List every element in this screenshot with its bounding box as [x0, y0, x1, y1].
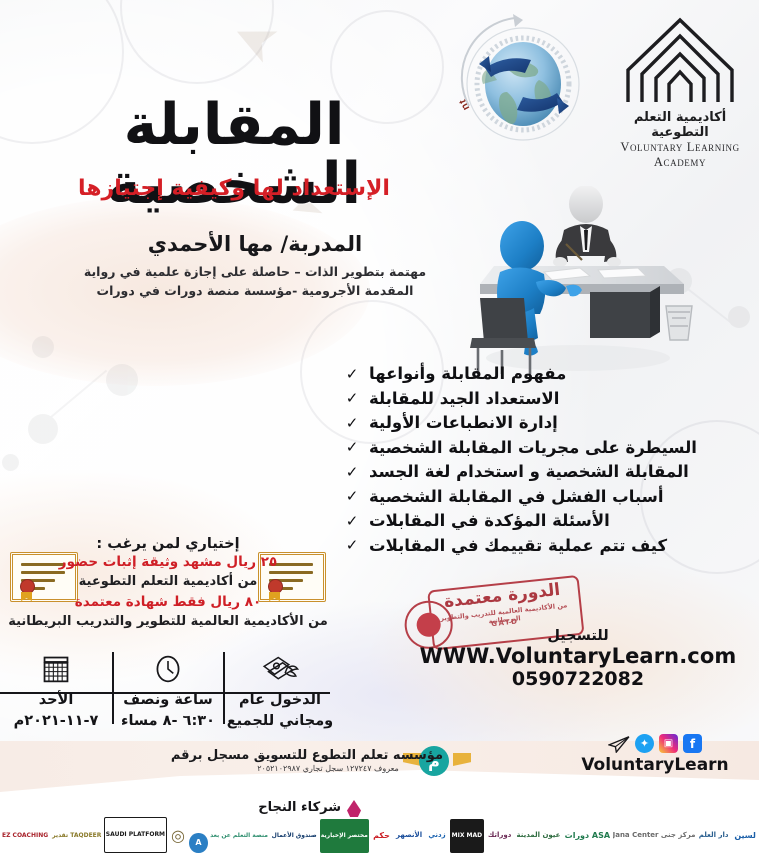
info-col-date: الأحد ٧-١١-٢٠٢١م: [0, 648, 112, 732]
check-icon: ✓: [345, 438, 359, 456]
course-poster: ➤ ➤: [0, 0, 759, 853]
info-date-value: ٧-١١-٢٠٢١م: [0, 711, 112, 732]
partner-logo: لسين: [732, 819, 758, 853]
partner-logo: زدني: [426, 819, 448, 853]
trainer-bio-line-1: مهتمة بتطوير الذات – حاصلة على إجازة علم…: [60, 262, 450, 281]
optional-price-certificate: ٨٠ ريال فقط شهادة معتمدة: [0, 592, 336, 612]
partner-logo: ◎: [169, 819, 188, 853]
list-item: ✓ المقابلة الشخصية و استخدام لغة الجسد: [345, 462, 745, 481]
check-icon: ✓: [345, 414, 359, 432]
partner-logo: مختصر الإخبارية: [320, 819, 369, 853]
registration-url[interactable]: WWW.VoluntaryLearn.com: [413, 644, 743, 668]
flying-money-icon: [224, 648, 336, 690]
list-item: ✓ أسباب الفشل في المقابلة الشخصية: [345, 487, 745, 506]
partner-logo: دار العلم: [697, 819, 730, 853]
info-col-price: الدخول عام ومجاني للجميع: [224, 648, 336, 732]
academy-name-en-1: Voluntary Learning: [606, 140, 754, 155]
partner-logo: منصة التعلم عن بعد: [210, 819, 269, 853]
topic-label: كيف تتم عملية تقييمك في المقابلات: [369, 536, 667, 555]
topic-label: المقابلة الشخصية و استخدام لغة الجسد: [369, 462, 689, 481]
partner-logo: SAUDI PLATFORM: [104, 817, 166, 853]
footer-organization: مؤسسه تعلم التطوع للتسويق مسجل برقم معرو…: [213, 748, 443, 773]
partner-logo: حكم: [371, 819, 392, 853]
info-date-day: الأحد: [0, 690, 112, 711]
optional-issuer-academy: من أكاديمية التعلم التطوعية: [0, 572, 336, 592]
course-info-row: الأحد ٧-١١-٢٠٢١م ساعة ونصف ٦:٣٠ -٨ مساء: [0, 648, 336, 732]
info-duration: ساعة ونصف: [112, 690, 224, 711]
deco-molecule-left: [10, 330, 150, 480]
social-handle: VoluntaryLearn: [565, 755, 745, 775]
optional-heading: إختياري لمن يرغب :: [0, 536, 336, 552]
partner-logo: الأنصهر: [394, 819, 424, 853]
optional-price-attendance: ٢٥ ريال مشهد وثيقة إثبات حضور: [0, 552, 336, 572]
instagram-icon[interactable]: ▣: [659, 734, 678, 753]
list-item: ✓ مفهوم المقابلة وأنواعها: [345, 364, 745, 383]
topic-label: الاستعداد الجيد للمقابلة: [369, 389, 559, 408]
partner-logo: دوراتك: [486, 819, 514, 853]
social-icons: f ▣ ✦: [565, 734, 745, 753]
topic-label: مفهوم المقابلة وأنواعها: [369, 364, 566, 383]
footer-org-line-1: مؤسسه تعلم التطوع للتسويق مسجل برقم: [213, 748, 443, 763]
list-item: ✓ إدارة الانطباعات الأولية: [345, 413, 745, 432]
svg-text:Iqbal Academy for Training And: Iqbal Academy for Training And Developme…: [455, 6, 472, 112]
voluntary-learning-academy-logo: أكاديمية التعلم التطوعية Voluntary Learn…: [606, 12, 754, 162]
partner-logo: TAQDEER تقدير: [51, 819, 102, 853]
topics-list: ✓ مفهوم المقابلة وأنواعها ✓ الاستعداد ال…: [345, 364, 745, 560]
iqbal-academy-logo: Iqbal Academy for Training And Developme…: [455, 6, 595, 156]
registration-phone[interactable]: 0590722082: [413, 668, 743, 690]
topic-label: السيطرة على مجريات المقابلة الشخصية: [369, 438, 697, 457]
list-item: ✓ السيطرة على مجريات المقابلة الشخصية: [345, 438, 745, 457]
optional-issuer-international: من الأكاديمية العالمية للتطوير والتدريب …: [0, 612, 336, 632]
check-icon: ✓: [345, 365, 359, 383]
check-icon: ✓: [345, 389, 359, 407]
partner-logos-row: لسين دار العلم مركز جنى Jana Center ASA …: [0, 792, 759, 853]
partner-logo: A: [189, 833, 207, 853]
info-time-range: ٦:٣٠ -٨ مساء: [112, 711, 224, 732]
list-item: ✓ كيف تتم عملية تقييمك في المقابلات: [345, 536, 745, 555]
topic-label: الأسئلة المؤكدة في المقابلات: [369, 511, 610, 530]
topic-label: إدارة الانطباعات الأولية: [369, 413, 558, 432]
job-interview-illustration: [438, 186, 700, 376]
partner-logo: EZ COACHING: [1, 819, 49, 853]
info-entry-1: الدخول عام: [224, 690, 336, 711]
clock-icon: [112, 648, 224, 690]
partner-logo: صندوق الأعمال: [271, 819, 318, 853]
check-icon: ✓: [345, 487, 359, 505]
check-icon: ✓: [345, 536, 359, 554]
partner-logo: مركز جنى Jana Center: [613, 819, 695, 853]
partner-logo: عيون المدينة: [515, 819, 561, 853]
poster-subtitle: الإستعداد لها وكيفية إجتيازها: [14, 176, 454, 201]
check-icon: ✓: [345, 512, 359, 530]
topic-label: أسباب الفشل في المقابلة الشخصية: [369, 487, 664, 506]
registration-label: للتسجيل: [413, 628, 743, 644]
social-block: f ▣ ✦ VoluntaryLearn: [565, 734, 745, 775]
telegram-icon[interactable]: [608, 734, 630, 753]
facebook-icon[interactable]: f: [683, 734, 702, 753]
list-item: ✓ الاستعداد الجيد للمقابلة: [345, 389, 745, 408]
optional-certificate-block: إختياري لمن يرغب : ٢٥ ريال مشهد وثيقة إث…: [0, 536, 336, 632]
twitter-icon[interactable]: ✦: [635, 734, 654, 753]
trainer-name: المدربة/ مها الأحمدي: [60, 232, 450, 256]
list-item: ✓ الأسئلة المؤكدة في المقابلات: [345, 511, 745, 530]
partner-logo: ASA دورات: [564, 819, 612, 853]
registration-block: للتسجيل WWW.VoluntaryLearn.com 059072208…: [413, 628, 743, 690]
footer-org-line-2: معروف ١٢٧٢٤٧ سجل تجاري ٢٠٥٢١٠٢٩٨٧: [213, 764, 443, 773]
info-entry-2: ومجاني للجميع: [224, 711, 336, 732]
academy-name-en-2: Academy: [606, 155, 754, 170]
info-col-time: ساعة ونصف ٦:٣٠ -٨ مساء: [112, 648, 224, 732]
calendar-icon: [0, 648, 112, 690]
trainer-bio: مهتمة بتطوير الذات – حاصلة على إجازة علم…: [60, 262, 450, 301]
academy-name-ar: أكاديمية التعلم التطوعية: [606, 110, 754, 140]
partner-logo: MIX MAD: [450, 819, 484, 853]
check-icon: ✓: [345, 463, 359, 481]
trainer-bio-line-2: المقدمة الأجرومية -مؤسسة منصة دورات في د…: [60, 281, 450, 300]
